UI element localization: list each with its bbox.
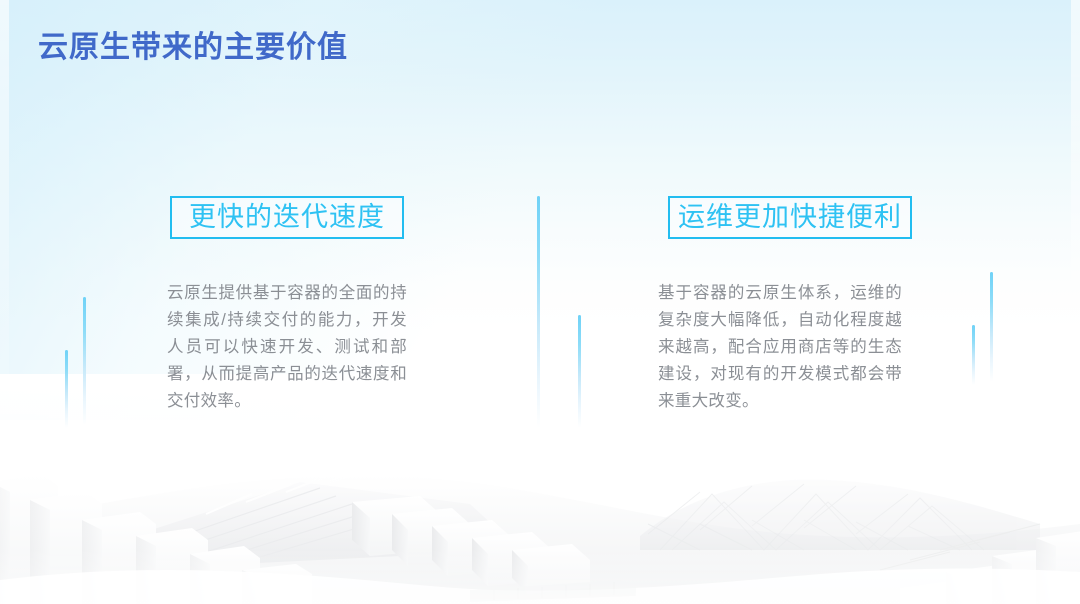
accent-line-right-tall [990, 272, 993, 382]
slide-canvas: 云原生带来的主要价值 更快的迭代速度 云原生提供基于容器的全面的持续集成/持续交… [0, 0, 1080, 604]
accent-line-mid-tall [537, 196, 540, 428]
edge-highlight-left [0, 0, 9, 604]
accent-line-mid-short [578, 315, 581, 428]
value-card-heading-box-1[interactable]: 更快的迭代速度 [170, 196, 404, 239]
accent-line-right-short [972, 325, 975, 385]
background-3d-landscape [0, 374, 1080, 604]
value-card-body-2: 基于容器的云原生体系，运维的复杂度大幅降低，自动化程度越来越高，配合应用商店等的… [658, 280, 902, 415]
value-card-heading-text-1: 更快的迭代速度 [189, 204, 385, 231]
accent-line-left-short [65, 350, 68, 428]
edge-highlight-right [1071, 0, 1080, 604]
accent-line-left-tall [83, 297, 86, 425]
value-card-heading-box-2[interactable]: 运维更加快捷便利 [668, 196, 912, 239]
value-card-body-1: 云原生提供基于容器的全面的持续集成/持续交付的能力，开发人员可以快速开发、测试和… [167, 280, 407, 415]
value-card-heading-text-2: 运维更加快捷便利 [678, 204, 902, 231]
page-title: 云原生带来的主要价值 [38, 22, 348, 66]
